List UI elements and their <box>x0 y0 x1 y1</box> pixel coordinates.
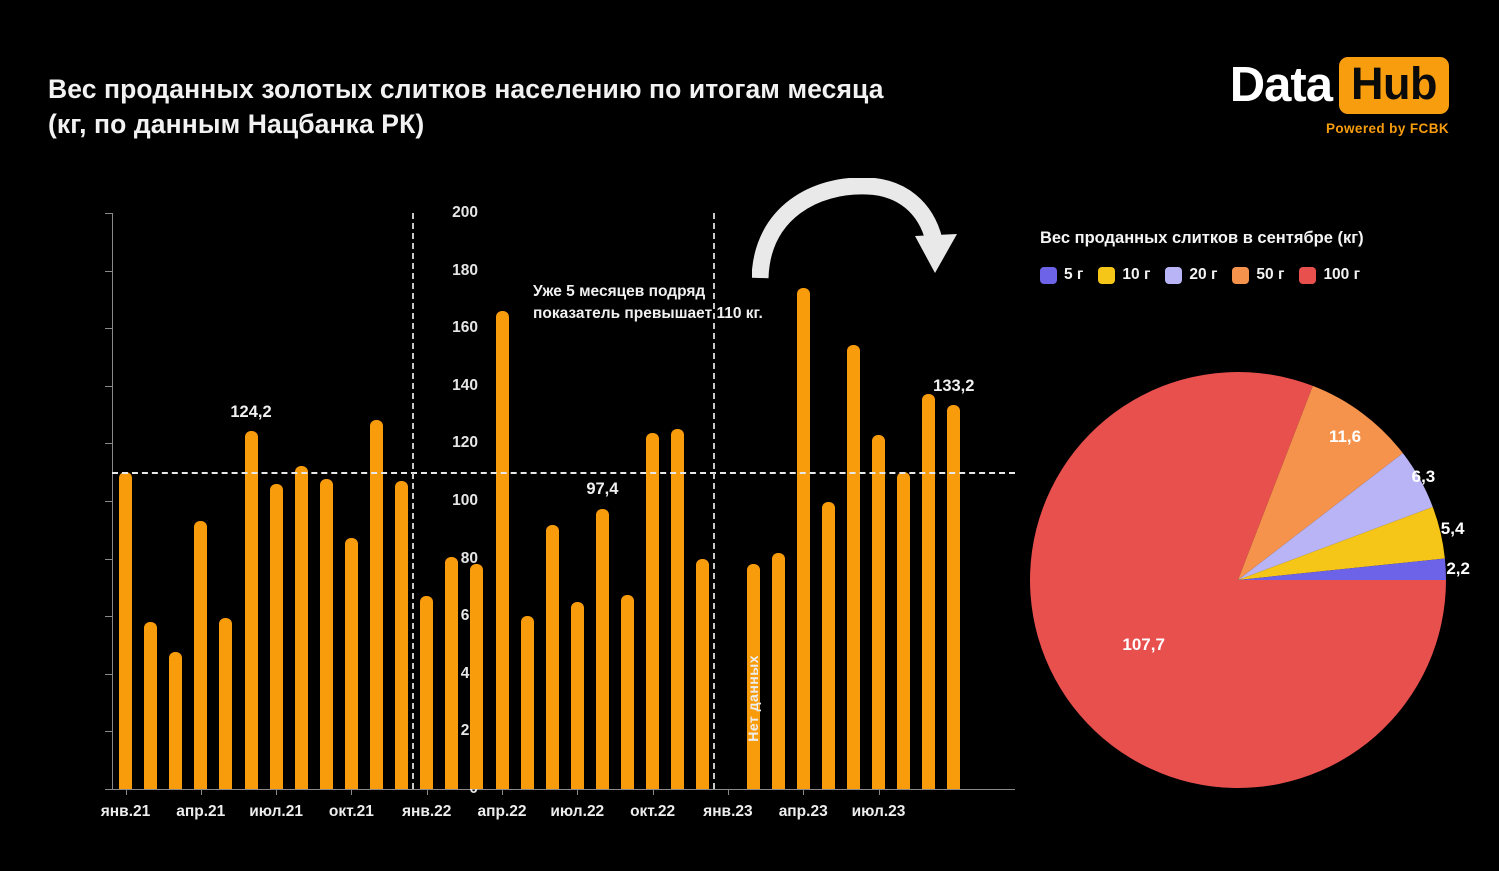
x-axis-tick-label: июл.23 <box>852 803 906 821</box>
logo-powered-by: Powered by FCBK <box>1230 121 1449 136</box>
legend-item: 100 г <box>1299 266 1360 284</box>
legend-swatch-icon <box>1040 267 1057 284</box>
x-axis-tick-mark <box>276 789 277 795</box>
x-axis-tick-label: июл.22 <box>550 803 604 821</box>
bar <box>772 553 785 789</box>
y-axis-tick-mark <box>105 674 112 675</box>
bar <box>119 472 132 789</box>
bar-value-label: 124,2 <box>230 403 271 422</box>
bar <box>245 431 258 789</box>
bar <box>797 288 810 789</box>
x-axis-tick-mark <box>879 789 880 795</box>
bar-value-label: 133,2 <box>933 377 974 396</box>
chart-annotation: Уже 5 месяцев подряд показатель превышае… <box>533 281 763 325</box>
bar <box>696 559 709 789</box>
x-axis-tick-label: апр.22 <box>478 803 527 821</box>
bar <box>847 345 860 789</box>
pie-svg <box>1030 372 1460 788</box>
y-axis-tick-mark <box>105 559 112 560</box>
bar <box>445 557 458 789</box>
x-axis-tick-label: окт.21 <box>329 803 374 821</box>
bar <box>897 472 910 789</box>
bar <box>822 502 835 789</box>
y-axis-tick-mark <box>105 328 112 329</box>
x-axis-tick-mark <box>577 789 578 795</box>
bar <box>169 652 182 789</box>
x-axis-tick-label: янв.22 <box>402 803 451 821</box>
x-axis-tick-label: апр.21 <box>176 803 225 821</box>
bar <box>646 433 659 789</box>
x-axis-tick-mark <box>728 789 729 795</box>
bar <box>219 618 232 789</box>
legend-item-label: 20 г <box>1189 266 1217 284</box>
curved-arrow-icon <box>752 178 967 283</box>
legend-item-label: 50 г <box>1256 266 1284 284</box>
title-line-1: Вес проданных золотых слитков населению … <box>48 74 884 104</box>
x-axis-line <box>112 789 1015 790</box>
legend-item: 20 г <box>1165 266 1217 284</box>
bar <box>270 484 283 789</box>
x-axis-tick-label: янв.23 <box>703 803 752 821</box>
y-axis-tick-mark <box>105 789 112 790</box>
pie-slice-value-label: 107,7 <box>1122 635 1165 655</box>
logo-wordmark: Data Hub <box>1230 57 1449 114</box>
pie-legend: 5 г10 г20 г50 г100 г <box>1040 266 1360 284</box>
x-axis-tick-label: окт.22 <box>630 803 675 821</box>
pie-legend-title: Вес проданных слитков в сентябре (кг) <box>1040 229 1364 248</box>
bar <box>621 595 634 789</box>
x-axis-tick-mark <box>351 789 352 795</box>
y-axis-tick-mark <box>105 616 112 617</box>
x-axis-tick-mark <box>803 789 804 795</box>
y-axis-tick-mark <box>105 213 112 214</box>
legend-item: 5 г <box>1040 266 1083 284</box>
logo-hub-text: Hub <box>1339 57 1449 114</box>
x-axis-tick-mark <box>502 789 503 795</box>
bar <box>194 521 207 789</box>
x-axis-tick-label: июл.21 <box>249 803 303 821</box>
year-separator <box>412 213 414 789</box>
bar <box>144 622 157 789</box>
bar <box>370 420 383 789</box>
bar <box>521 616 534 789</box>
x-axis-tick-mark <box>201 789 202 795</box>
bar <box>420 596 433 789</box>
legend-swatch-icon <box>1299 267 1316 284</box>
legend-swatch-icon <box>1165 267 1182 284</box>
bar <box>395 481 408 789</box>
legend-item: 50 г <box>1232 266 1284 284</box>
pie-slice-value-label: 11,6 <box>1329 427 1361 447</box>
bar <box>922 394 935 789</box>
logo-data-text: Data <box>1230 61 1339 110</box>
datahub-logo: Data Hub Powered by FCBK <box>1230 57 1449 136</box>
bar <box>320 479 333 789</box>
bar <box>295 466 308 789</box>
pie-slice-value-label: 5,4 <box>1441 519 1465 539</box>
title-line-2: (кг, по данным Нацбанка РК) <box>48 107 1028 142</box>
annotation-line-1: Уже 5 месяцев подряд <box>533 281 763 303</box>
bar <box>596 509 609 790</box>
x-axis-tick-mark <box>427 789 428 795</box>
bar <box>345 538 358 789</box>
bar <box>947 405 960 789</box>
x-axis-tick-label: янв.21 <box>101 803 150 821</box>
page-title: Вес проданных золотых слитков населению … <box>48 72 1028 142</box>
x-axis-tick-label: апр.23 <box>779 803 828 821</box>
pie-chart: 107,711,66,35,42,2 <box>1030 372 1460 788</box>
bar <box>872 435 885 789</box>
legend-item-label: 10 г <box>1122 266 1150 284</box>
bar <box>571 602 584 789</box>
bar <box>496 311 509 789</box>
pie-slice-value-label: 2,2 <box>1446 559 1470 579</box>
annotation-line-2: показатель превышает 110 кг. <box>533 303 763 325</box>
reference-line-110 <box>112 472 1015 474</box>
y-axis-tick-mark <box>105 386 112 387</box>
bar-value-label: 97,4 <box>586 480 618 499</box>
bar <box>546 525 559 789</box>
legend-item: 10 г <box>1098 266 1150 284</box>
bar <box>470 564 483 789</box>
legend-item-label: 100 г <box>1323 266 1360 284</box>
x-axis-tick-mark <box>126 789 127 795</box>
y-axis-tick-mark <box>105 501 112 502</box>
legend-swatch-icon <box>1232 267 1249 284</box>
legend-swatch-icon <box>1098 267 1115 284</box>
y-axis-tick-mark <box>105 731 112 732</box>
y-axis-tick-mark <box>105 443 112 444</box>
legend-item-label: 5 г <box>1064 266 1083 284</box>
pie-slice-value-label: 6,3 <box>1412 467 1436 487</box>
bar <box>671 429 684 789</box>
no-data-label: Нет данных <box>745 655 761 742</box>
y-axis-tick-mark <box>105 271 112 272</box>
x-axis-tick-mark <box>653 789 654 795</box>
